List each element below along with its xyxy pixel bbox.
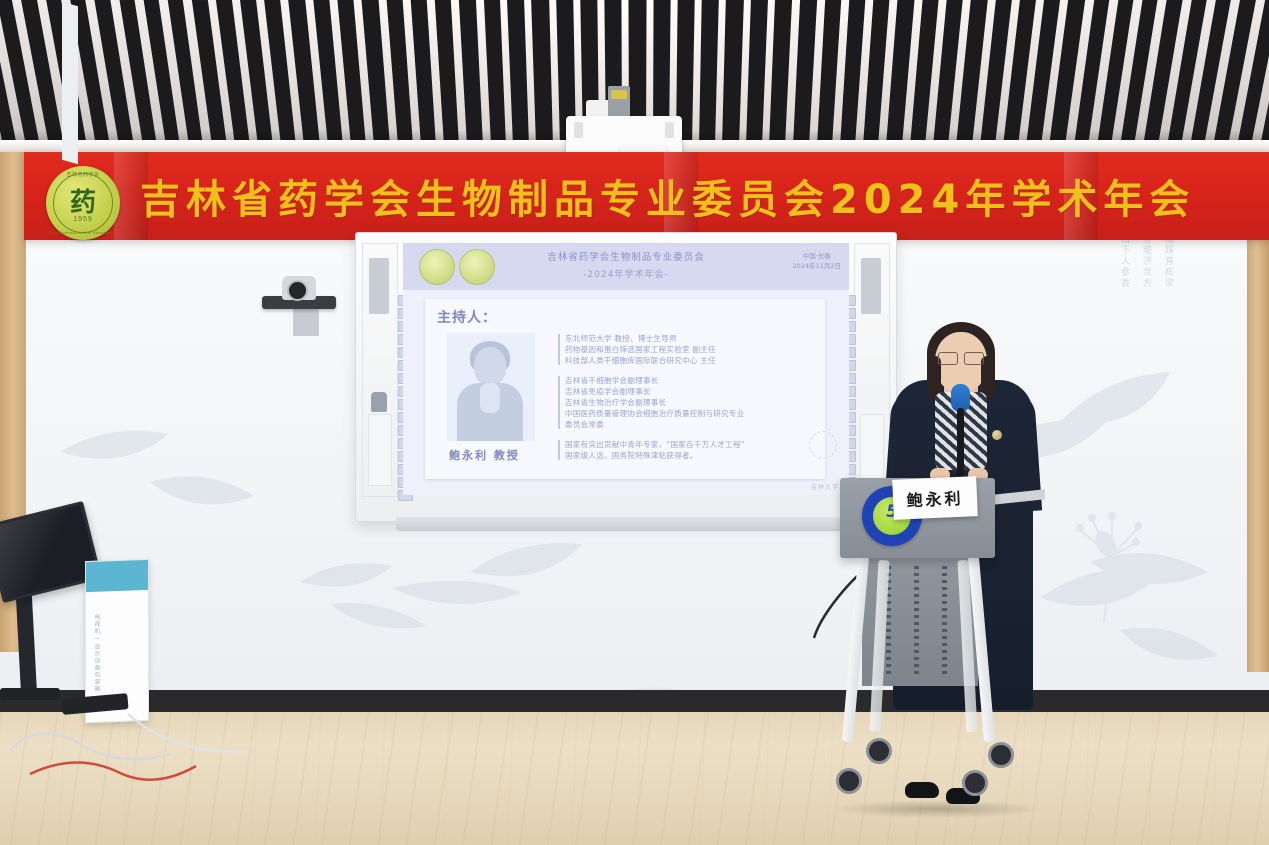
ceiling-slat: [739, 0, 751, 146]
panel-tray: [368, 414, 392, 486]
panel-tray: [860, 414, 884, 486]
credential-line: 国家有突出贡献中青年专家，“国家百千万人才工程”: [565, 439, 815, 450]
ceiling-slat: [329, 0, 351, 146]
speaker-nameplate: 鲍永利: [892, 476, 978, 520]
box-printed-text: 电视机 / 显示设备包装箱: [92, 614, 101, 693]
ceiling-slat: [183, 0, 212, 147]
association-logo-icon: 吉林省药学会 药 1959 Jilin Pharmaceutical Assoc…: [46, 166, 120, 240]
ceiling-slat: [878, 0, 898, 146]
interactive-whiteboard[interactable]: 吉林省药学会生物制品专业委员会 -2024年学术年会- 中国·长春 2024年1…: [355, 232, 897, 522]
projector-arm: [608, 86, 630, 120]
slide-header-subtitle: -2024年学术年会-: [403, 267, 849, 280]
ceiling-slat: [353, 0, 374, 146]
credential-line: 东北师范大学 教授、博士生导师: [565, 333, 805, 344]
logo-top-text: 吉林省药学会: [46, 171, 120, 178]
box-top-label: [86, 560, 148, 592]
logo-bottom-text: Jilin Pharmaceutical Association: [46, 230, 120, 235]
camera-lens-icon: [287, 280, 308, 301]
ceiling-slat: [1018, 0, 1045, 147]
ceiling-slat: [762, 0, 776, 146]
podium-caster: [962, 770, 988, 796]
credential-line: 委员会常委: [565, 419, 815, 430]
slide-footer: 吉林大学: [811, 482, 839, 491]
ceiling-slat: [549, 0, 560, 146]
conference-hall-photo: 长白山下人参香 杏林春暖济世方 桃李成蹊育栋梁 吉林省药学会生物制品专业委员会2…: [0, 0, 1269, 845]
nameplate-text: 鲍永利: [906, 485, 964, 511]
camera-bracket: [293, 308, 319, 336]
ceiling-slat: [832, 0, 849, 146]
slide-location-date: 中国·长春 2024年11月2日: [793, 251, 841, 271]
ceiling-slat: [378, 0, 398, 146]
credential-line: 吉林省生物治疗学会副理事长: [565, 397, 815, 408]
speaker-portrait: [447, 333, 535, 441]
slide-speaker-name: 鲍永利 教授: [449, 447, 520, 463]
panel-slot: [369, 258, 389, 314]
whiteboard-bottom-rail: [396, 517, 856, 531]
podium-perforation: [942, 566, 947, 676]
ceiling-slat: [280, 0, 304, 146]
ceiling-slat: [451, 0, 467, 146]
credential-line: 国家级人选，国务院特殊津贴获得者。: [565, 450, 815, 461]
credential-line: 中国医药质量管理协会细胞治疗质量控制与研究专业: [565, 408, 815, 419]
whiteboard-side-panel-right: [854, 243, 890, 497]
ceiling-slat: [427, 0, 444, 146]
ceiling-slat: [524, 0, 536, 146]
ceiling-slat: [402, 0, 420, 146]
podium-caster: [866, 738, 892, 764]
slide-content-card: 主持人： 鲍永利 教授 东北师范大学 教授、博士生导师药物基因和蛋白筛选国家工程…: [425, 299, 825, 479]
credentials-group-2: 吉林省干细胞学会副理事长吉林省免疫学会副理事长吉林省生物治疗学会副理事长中国医药…: [565, 375, 815, 430]
logo-year: 1959: [46, 216, 120, 223]
ceiling-slat: [1065, 0, 1094, 147]
logo-character: 药: [46, 182, 120, 219]
ceiling-slat: [715, 0, 726, 146]
credential-line: 吉林省干细胞学会副理事长: [565, 375, 815, 386]
ceiling-slat: [809, 0, 825, 146]
credential-line: 吉林省免疫学会副理事长: [565, 386, 815, 397]
panel-knob[interactable]: [371, 392, 387, 412]
speaker-shoe-left: [905, 782, 939, 798]
slide-header: 吉林省药学会生物制品专业委员会 -2024年学术年会- 中国·长春 2024年1…: [403, 243, 849, 290]
whiteboard-side-panel-left: [362, 243, 398, 497]
projection-screen: 吉林省药学会生物制品专业委员会 -2024年学术年会- 中国·长春 2024年1…: [403, 243, 849, 495]
slide-location: 中国·长春: [793, 251, 841, 261]
ceiling-slat: [500, 0, 514, 146]
credentials-group-1: 东北师范大学 教授、博士生导师药物基因和蛋白筛选国家工程实验室 副主任科技部人类…: [565, 333, 805, 366]
credentials-group-3: 国家有突出贡献中青年专家，“国家百千万人才工程”国家级人选，国务院特殊津贴获得者…: [565, 439, 815, 461]
ceiling-slat: [785, 0, 800, 146]
box-side-face: [62, 2, 78, 165]
ceiling-slat: [925, 0, 947, 146]
lapel-brooch-icon: [992, 430, 1002, 440]
slide-watermark-icon: [809, 431, 837, 459]
ceiling-slat: [158, 0, 188, 147]
podium-caster: [988, 742, 1014, 768]
panel-slot: [861, 258, 881, 314]
ceiling-slat: [948, 0, 971, 146]
ceiling-slat: [995, 0, 1020, 146]
credential-line: 药物基因和蛋白筛选国家工程实验室 副主任: [565, 344, 805, 355]
portrait-scarf: [480, 383, 500, 413]
slide-host-label: 主持人：: [437, 307, 497, 327]
credential-line: 科技部人类干细胞库国际联合研究中心 主任: [565, 355, 805, 366]
podium-perforation: [914, 566, 919, 676]
eyeglasses-icon: [938, 352, 984, 364]
ceiling-slat: [232, 0, 259, 147]
slide-date: 2024年11月2日: [793, 261, 841, 271]
ceiling-slat: [207, 0, 235, 147]
podium-caster: [836, 768, 862, 794]
banner-title-text: 吉林省药学会生物制品专业委员会2024年学术年会: [140, 160, 1269, 232]
portrait-head: [474, 347, 506, 385]
ceiling-slat: [692, 0, 702, 146]
floor-cables: [0, 690, 250, 830]
podium-floor-shadow: [832, 800, 1042, 818]
ceiling-slat: [972, 0, 996, 146]
ceiling-slat: [475, 0, 490, 146]
ceiling-slat: [1041, 0, 1069, 147]
ceiling-slat: [256, 0, 281, 146]
ceiling-slat: [902, 0, 923, 146]
slide-header-title: 吉林省药学会生物制品专业委员会: [403, 249, 849, 263]
ceiling-slat: [305, 0, 328, 146]
event-banner: 吉林省药学会生物制品专业委员会2024年学术年会: [24, 152, 1269, 240]
ceiling-slat: [855, 0, 873, 146]
